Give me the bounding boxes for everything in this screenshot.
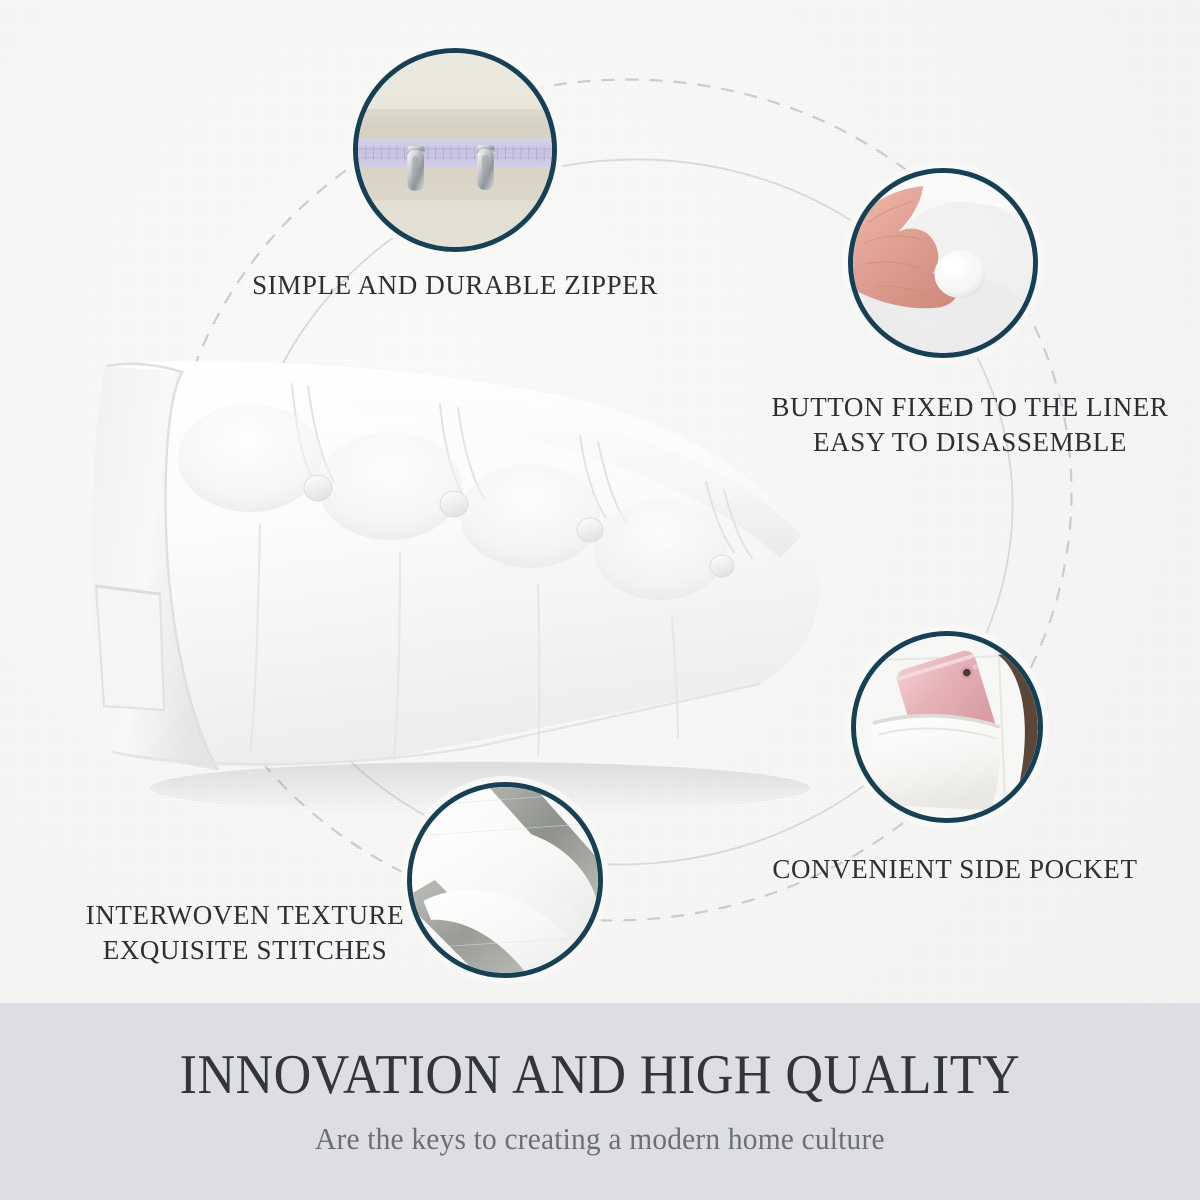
bottom-banner: INNOVATION AND HIGH QUALITY Are the keys… [0,1003,1200,1200]
zipper-photo-icon [358,53,552,247]
zipper-pull-left [407,146,426,191]
zipper-pull-right [476,145,495,190]
banner-subtitle: Are the keys to creating a modern home c… [315,1121,885,1157]
caption-zipper: SIMPLE AND DURABLE ZIPPER [180,268,730,303]
feature-circle-texture[interactable] [407,782,603,978]
caption-pocket: CONVENIENT SIDE POCKET [725,852,1185,887]
fabric-texture-photo-icon [412,787,598,973]
hand-holding-button-photo-icon [853,173,1033,353]
white-button [934,251,985,298]
caption-button: BUTTON FIXED TO THE LINER EASY TO DISASS… [740,390,1200,459]
infographic-canvas: SIMPLE AND DURABLE ZIPPER [0,0,1200,1200]
caption-texture: INTERWOVEN TEXTURE EXQUISITE STITCHES [55,898,435,967]
feature-circle-pocket[interactable] [851,631,1043,823]
zipper-tape [358,138,552,167]
feature-circle-button[interactable] [848,168,1038,358]
banner-title: INNOVATION AND HIGH QUALITY [180,1047,1020,1103]
feature-circle-zipper[interactable] [353,48,557,252]
product-photo [60,318,830,818]
side-pocket [96,586,164,710]
white-pocket [872,716,1000,811]
phone-in-side-pocket-photo-icon [856,636,1038,818]
